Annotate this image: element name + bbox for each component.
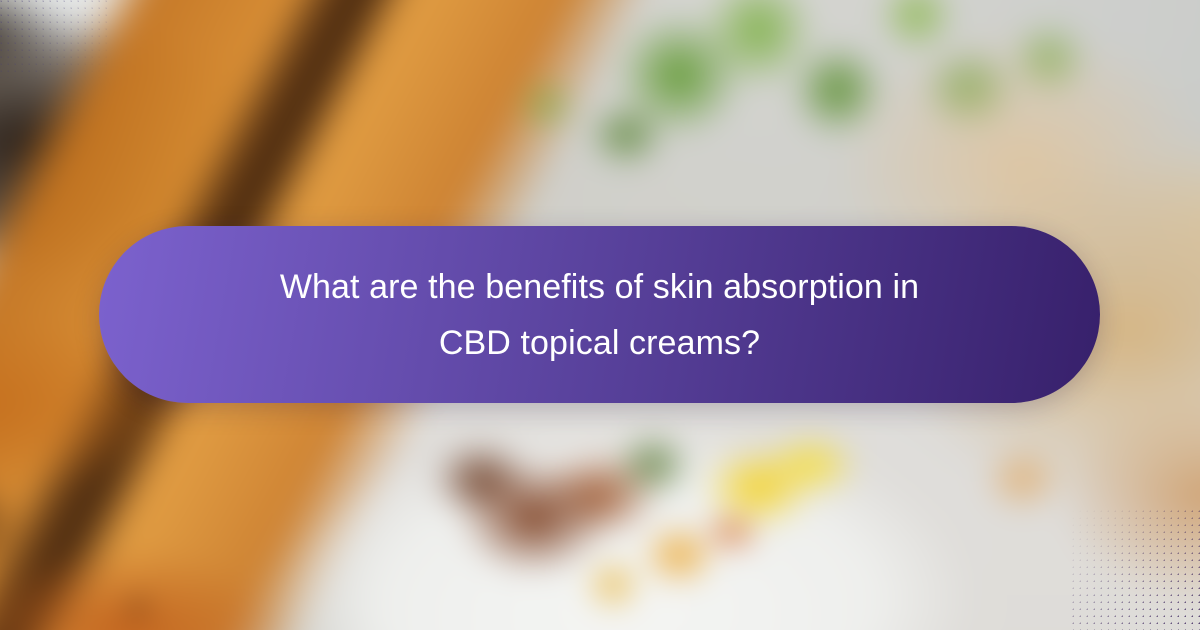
question-card: What are the benefits of skin absorption…: [0, 0, 1200, 630]
question-text: What are the benefits of skin absorption…: [230, 259, 970, 371]
question-pill: What are the benefits of skin absorption…: [99, 226, 1100, 403]
